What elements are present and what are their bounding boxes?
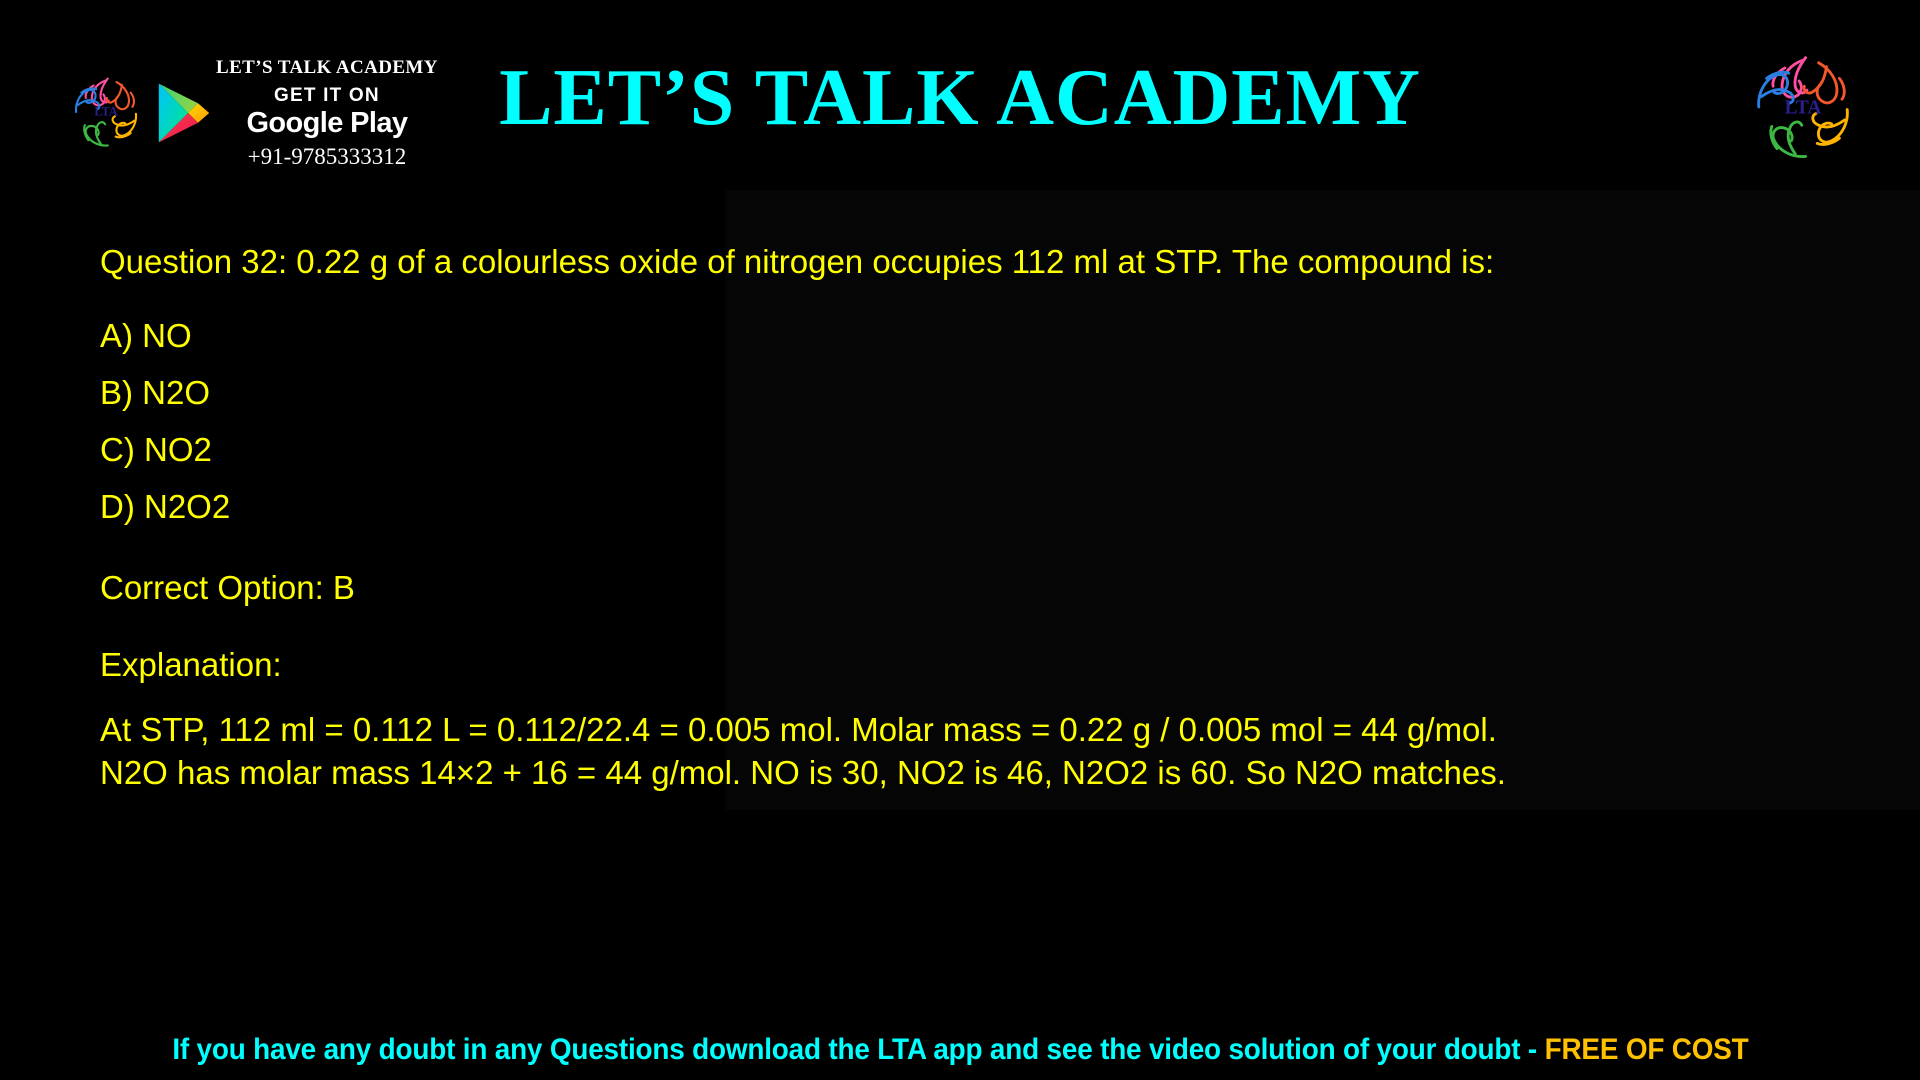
explanation-line-2: N2O has molar mass 14×2 + 16 = 44 g/mol.…	[100, 756, 1860, 789]
explanation-line-1: At STP, 112 ml = 0.112 L = 0.112/22.4 = …	[100, 713, 1860, 746]
option-a[interactable]: A) NO	[100, 319, 1860, 352]
footer-highlight-text: FREE OF COST	[1544, 1033, 1748, 1066]
explanation-label: Explanation:	[100, 648, 1860, 681]
option-d[interactable]: D) N2O2	[100, 490, 1860, 523]
question-answer-block: Question 32: 0.22 g of a colourless oxid…	[100, 245, 1860, 799]
page-header: LTA	[0, 0, 1920, 190]
page-title: LET’S TALK ACADEMY	[0, 58, 1920, 138]
footer-text-group: If you have any doubt in any Questions d…	[172, 1020, 1748, 1080]
correct-option-text: Correct Option: B	[100, 571, 1860, 604]
option-b[interactable]: B) N2O	[100, 376, 1860, 409]
option-c[interactable]: C) NO2	[100, 433, 1860, 466]
badge-phone-number: +91-9785333312	[248, 145, 407, 168]
main-content: Question 32: 0.22 g of a colourless oxid…	[0, 190, 1920, 1020]
footer-banner: If you have any doubt in any Questions d…	[0, 1020, 1920, 1080]
footer-main-text: If you have any doubt in any Questions d…	[172, 1033, 1544, 1066]
lta-protein-ribbon-logo-icon: LTA	[1738, 42, 1868, 172]
svg-text:LTA: LTA	[1785, 98, 1822, 119]
question-text: Question 32: 0.22 g of a colourless oxid…	[100, 245, 1860, 278]
